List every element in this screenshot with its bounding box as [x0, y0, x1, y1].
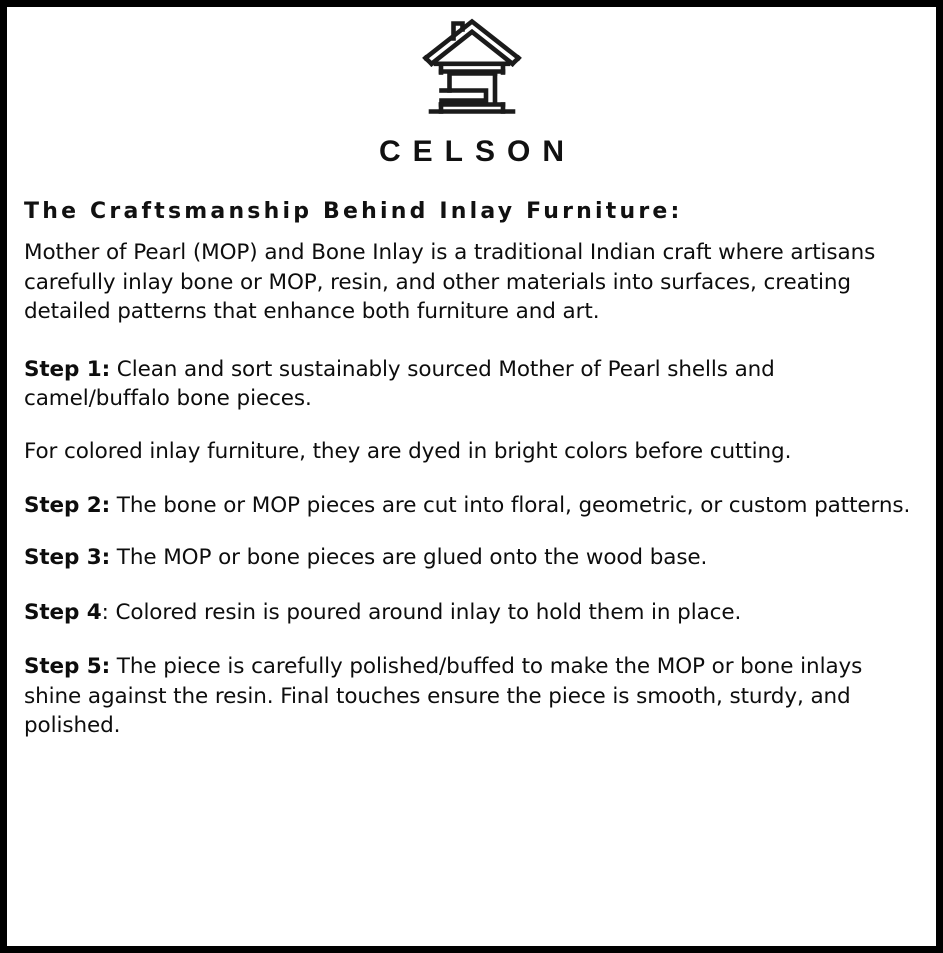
paragraph-lead: Step 4 [24, 600, 102, 625]
paragraph-text: : Colored resin is poured around inlay t… [102, 600, 742, 625]
house-with-s-monogram-icon [419, 16, 525, 121]
paragraph-step-3: Step 3: The MOP or bone pieces are glued… [24, 543, 924, 572]
document-page: CELSON The Craftsmanship Behind Inlay Fu… [0, 0, 943, 953]
document-content: CELSON The Craftsmanship Behind Inlay Fu… [7, 7, 936, 946]
paragraph-lead: Step 2: [24, 493, 110, 518]
body-copy: Mother of Pearl (MOP) and Bone Inlay is … [24, 224, 927, 740]
paragraph-lead: Step 1: [24, 357, 110, 382]
paragraph-text: The bone or MOP pieces are cut into flor… [110, 493, 910, 518]
paragraph-intro: Mother of Pearl (MOP) and Bone Inlay is … [24, 238, 924, 326]
paragraph-step-4: Step 4: Colored resin is poured around i… [24, 598, 924, 627]
paragraph-step-2: Step 2: The bone or MOP pieces are cut i… [24, 491, 924, 520]
paragraph-lead: Step 5: [24, 654, 110, 679]
paragraph-text: The MOP or bone pieces are glued onto th… [110, 545, 707, 570]
paragraph-text: The piece is carefully polished/buffed t… [24, 654, 862, 738]
brand-wordmark: CELSON [16, 137, 927, 167]
paragraph-text: Mother of Pearl (MOP) and Bone Inlay is … [24, 240, 875, 324]
paragraph-step-1: Step 1: Clean and sort sustainably sourc… [24, 355, 924, 414]
paragraph-step-5: Step 5: The piece is carefully polished/… [24, 652, 924, 740]
paragraph-note-colored: For colored inlay furniture, they are dy… [24, 437, 924, 466]
paragraph-text: For colored inlay furniture, they are dy… [24, 439, 791, 464]
paragraph-lead: Step 3: [24, 545, 110, 570]
page-title: The Craftsmanship Behind Inlay Furniture… [24, 199, 927, 224]
paragraph-text: Clean and sort sustainably sourced Mothe… [24, 357, 775, 411]
brand-block: CELSON [16, 13, 927, 167]
